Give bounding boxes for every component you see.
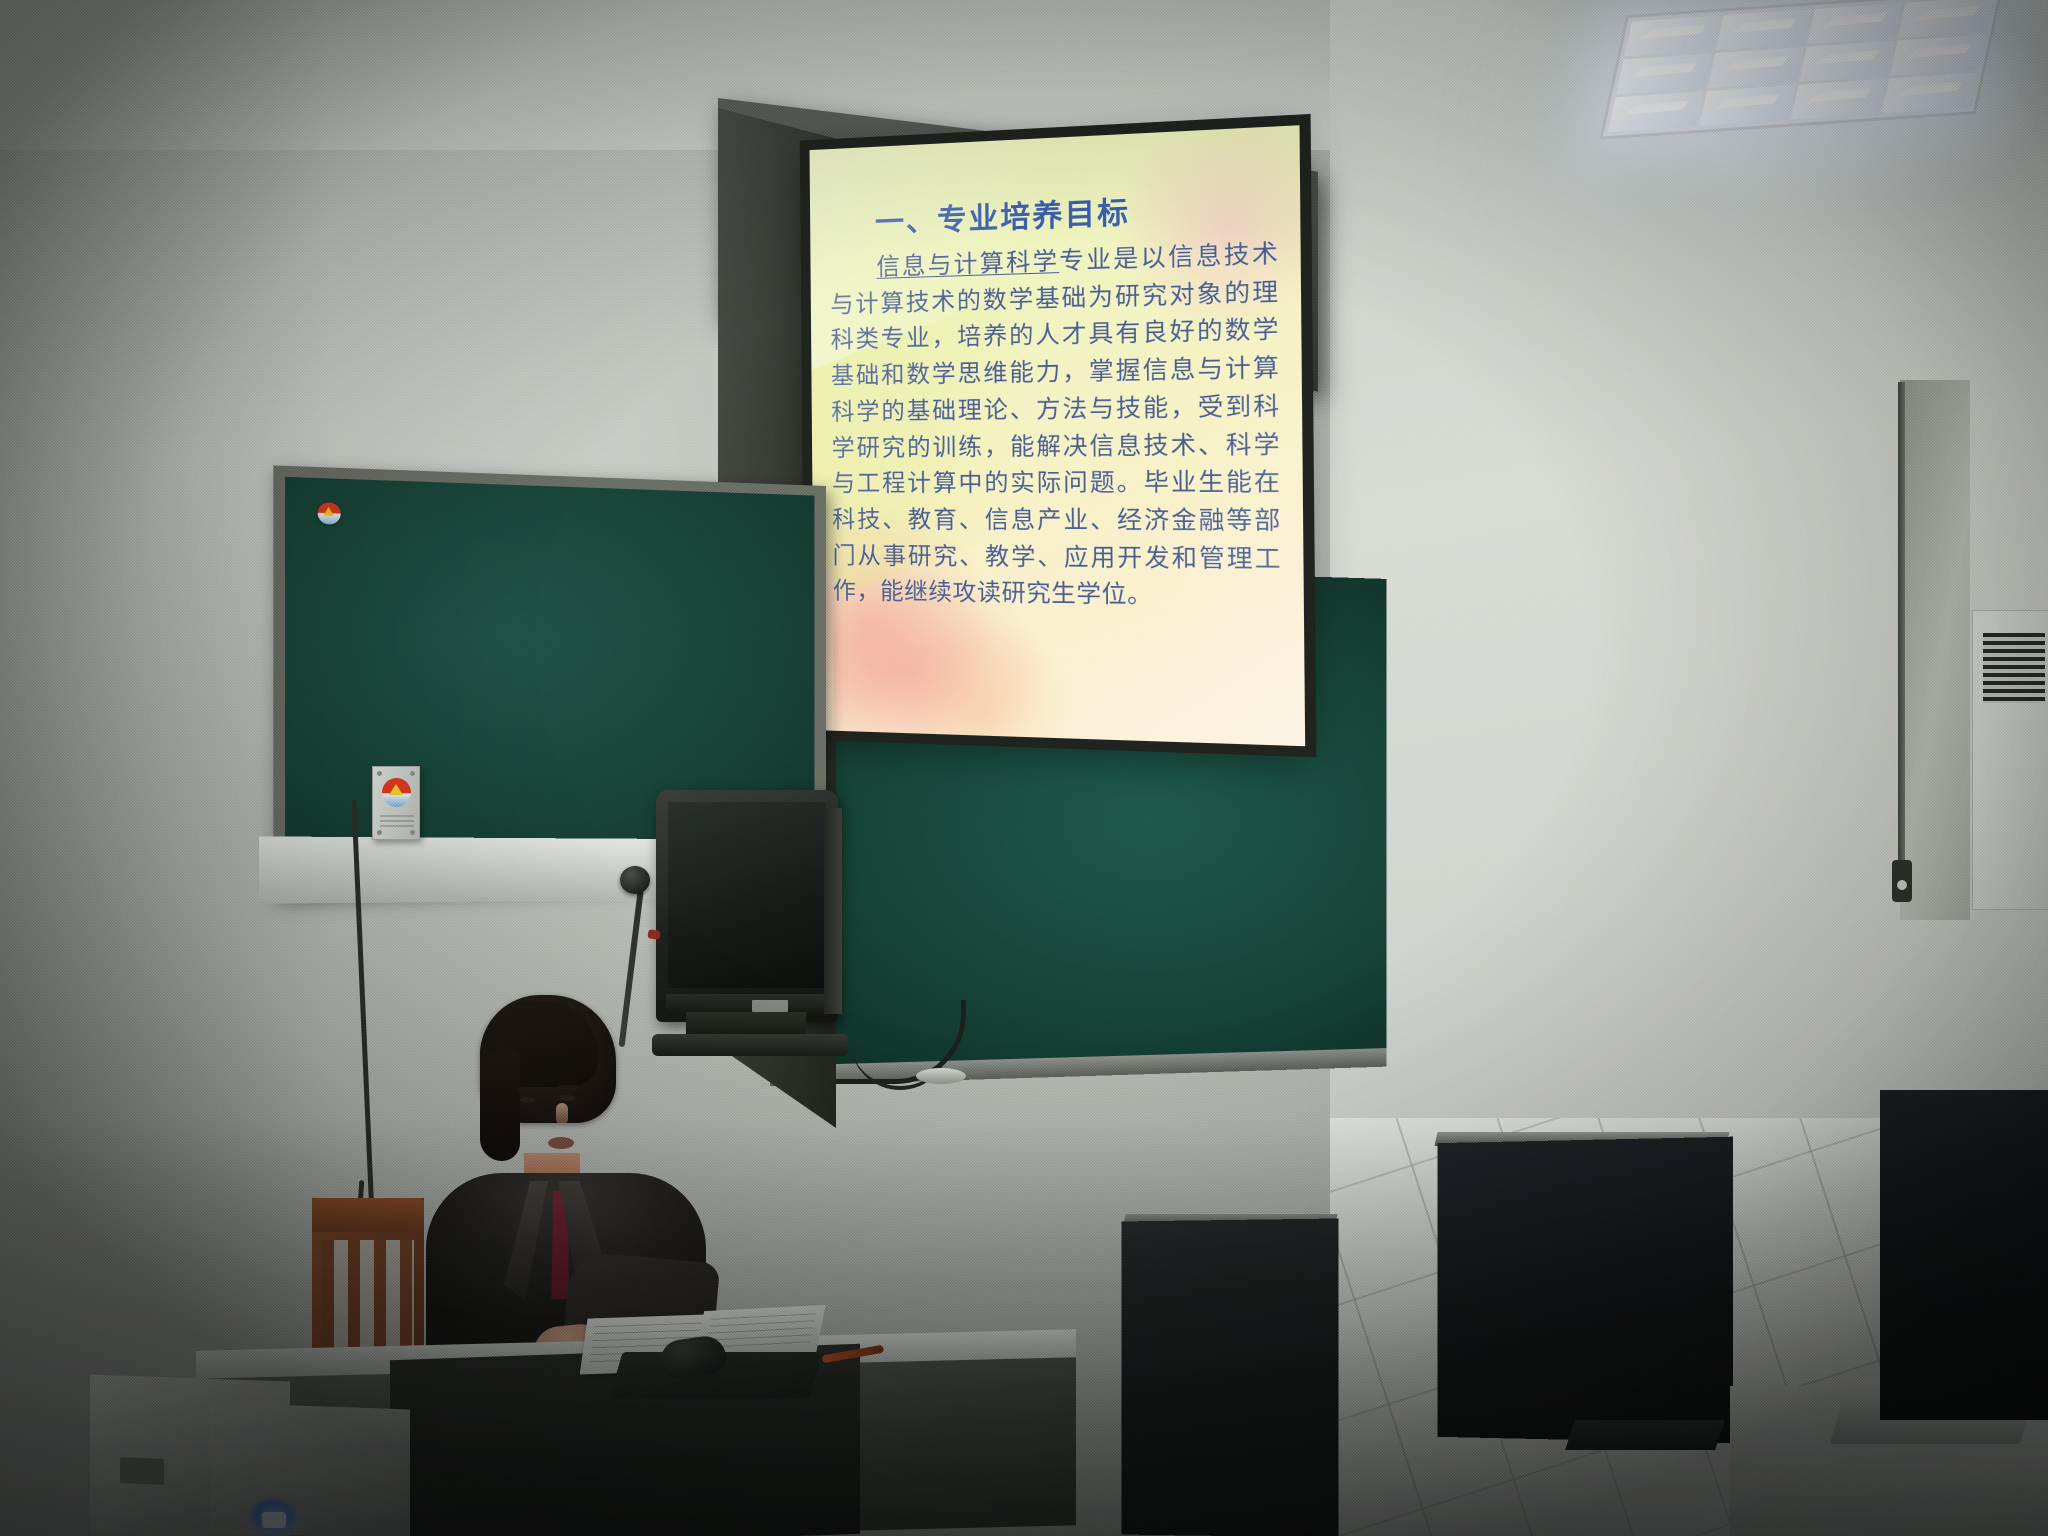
wall-control-box[interactable] [372, 766, 420, 840]
ac-pipe-clip [1892, 860, 1912, 902]
monitor-stand-base [652, 1034, 848, 1056]
microphone-icon [620, 866, 650, 894]
wall-column [1900, 380, 1970, 920]
slide-title: 一、专业培养目标 [875, 182, 1283, 242]
monitor-side-panel [824, 808, 842, 1014]
magnet-icon [318, 502, 341, 525]
institution-logo-icon [382, 778, 411, 807]
slide-body-text: 信息与计算科学专业是以信息技术与计算技术的数学基础为研究对象的理科类专业，培养的… [830, 235, 1282, 616]
presentation-slide: 一、专业培养目标 信息与计算科学专业是以信息技术与计算技术的数学基础为研究对象的… [810, 125, 1306, 746]
foreground-shadow [0, 1116, 2048, 1536]
podium-monitor[interactable] [656, 790, 838, 1022]
monitor-screen [668, 802, 826, 988]
ac-vent-grille [1983, 633, 2045, 703]
wall-box-label [380, 815, 414, 829]
microphone-ring [647, 929, 660, 939]
classroom-photo-scene: x 1/4 X 一、专业培养目标 信息与计算科学专业是以信息技术与计算技术的数学… [0, 0, 2048, 1536]
monitor-brand-badge [752, 1000, 788, 1012]
ac-pipe [1898, 382, 1905, 902]
projection-screen: 一、专业培养目标 信息与计算科学专业是以信息技术与计算技术的数学基础为研究对象的… [810, 125, 1306, 746]
air-conditioner-icon [1972, 610, 2048, 910]
microphone-base [916, 1068, 966, 1084]
